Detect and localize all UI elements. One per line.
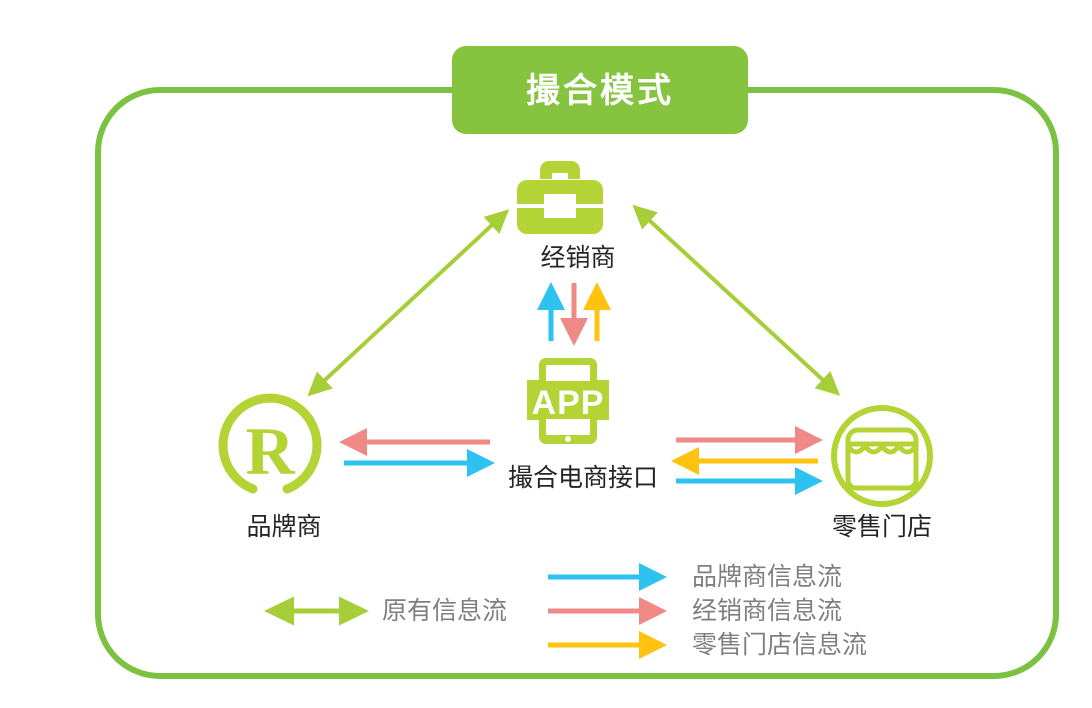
diagram-text: 撮合模式 经销商 撮合电商接口 品牌商 零售门店 原有信息流 品牌商信息流 经销…: [0, 0, 1092, 708]
page-title: 撮合模式: [526, 74, 674, 108]
legend-label-brand: 品牌商信息流: [692, 565, 842, 590]
node-label-app: 撮合电商接口: [508, 466, 658, 491]
app-badge-text: APP: [532, 386, 605, 420]
legend-label-retail: 零售门店信息流: [692, 633, 867, 658]
node-label-distributor: 经销商: [540, 246, 615, 271]
diagram-canvas: R: [0, 0, 1092, 708]
node-label-retail: 零售门店: [832, 515, 932, 540]
node-label-brand: 品牌商: [246, 515, 321, 540]
legend-label-distributor: 经销商信息流: [692, 599, 842, 624]
legend-label-legacy: 原有信息流: [382, 599, 507, 624]
